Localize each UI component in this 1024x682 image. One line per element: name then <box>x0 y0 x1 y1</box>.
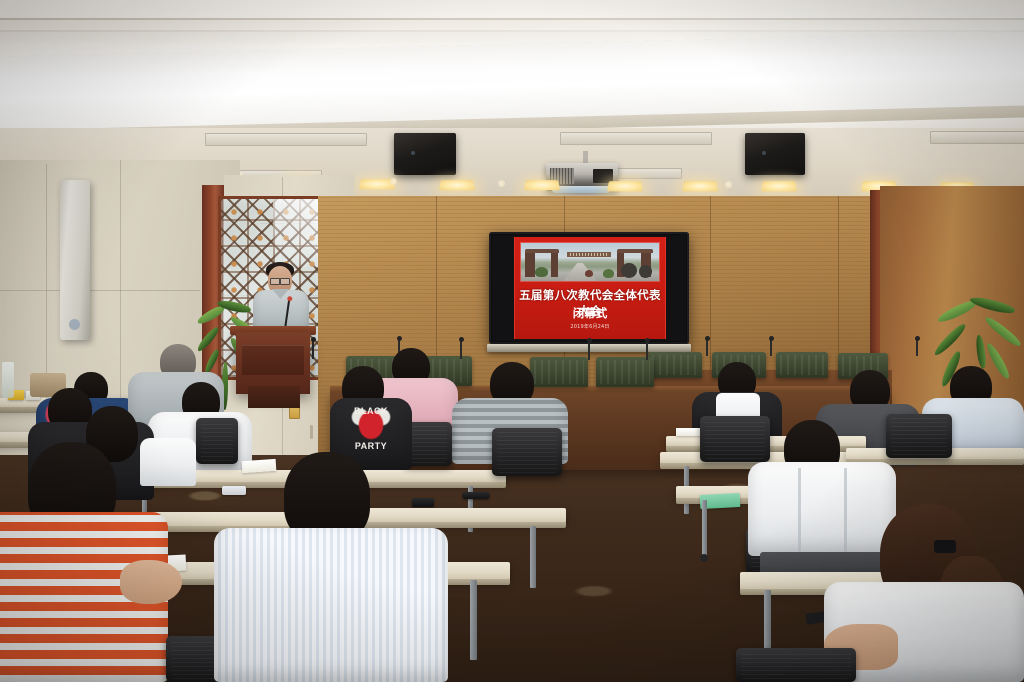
chair-row3-c[interactable] <box>492 428 562 476</box>
chair-row3-a[interactable] <box>196 418 238 464</box>
downlight-small-5 <box>725 181 732 188</box>
attendee-blue-torso <box>214 528 448 682</box>
hair-tie <box>934 540 956 553</box>
chair-front-right[interactable] <box>736 648 856 682</box>
desk-leg-f3 <box>530 526 536 588</box>
slide: 五届第八次教代会全体代表大会 闭幕式 2019年6月24日 <box>514 237 666 339</box>
desk-leg-r2c <box>702 500 707 556</box>
chair-row2-right[interactable] <box>700 416 770 462</box>
dark-object-on-desk[interactable] <box>462 492 490 499</box>
blazer-lapel-left <box>798 468 801 554</box>
papers-row3 <box>242 459 277 473</box>
attendee-white-blazer-torso <box>748 462 896 556</box>
desk-leg-f5 <box>470 580 477 660</box>
desk-caster-1 <box>700 554 708 562</box>
head-chair-4[interactable] <box>596 357 654 387</box>
ceiling-speaker-left <box>394 133 456 175</box>
slide-photo <box>521 243 659 281</box>
downlight-small-4 <box>498 180 505 187</box>
door-handle[interactable] <box>310 425 313 439</box>
ceiling-speaker-right <box>745 133 805 175</box>
podium-front-panel <box>242 345 304 375</box>
head-mic-r3 <box>916 340 918 356</box>
head-mic-2 <box>460 341 462 359</box>
glasses-icon <box>270 278 290 283</box>
slide-subtitle: 闭幕式 <box>515 305 665 321</box>
head-chair-3[interactable] <box>530 357 588 387</box>
blazer-lapel-right <box>844 468 847 554</box>
slide-date: 2019年6月24日 <box>515 323 665 330</box>
desk-front-center <box>336 508 566 523</box>
head-mic-r1 <box>706 340 708 356</box>
air-vent-right <box>930 131 1024 144</box>
projector-lens <box>552 186 610 193</box>
wall-column-speaker <box>60 180 90 340</box>
downlight-3 <box>439 180 475 190</box>
head-chair-r3[interactable] <box>776 352 828 378</box>
phone-on-desk[interactable] <box>222 486 246 495</box>
tee-text-bottom: PARTY <box>344 441 398 451</box>
air-vent-center <box>560 132 712 145</box>
head-mic-5 <box>312 341 314 359</box>
chair-row2-right2[interactable] <box>886 414 952 458</box>
head-mic-3 <box>588 342 590 360</box>
downlight-4 <box>524 180 560 190</box>
downlight-small-3 <box>390 178 397 185</box>
downlight-5 <box>607 181 643 191</box>
screen-panel: 五届第八次教代会全体代表大会 闭幕式 2019年6月24日 <box>492 235 686 341</box>
air-vent-left <box>205 133 367 146</box>
attendee-white-shoulder <box>140 438 196 486</box>
downlight-6 <box>682 181 718 191</box>
head-mic-4 <box>646 342 648 360</box>
conference-room-photo: 五届第八次教代会全体代表大会 闭幕式 2019年6月24日 <box>0 0 1024 682</box>
dark-phone-on-desk[interactable] <box>412 498 434 507</box>
head-chair-r1[interactable] <box>648 352 702 378</box>
water-cup-left <box>2 362 14 398</box>
presentation-screen[interactable]: 五届第八次教代会全体代表大会 闭幕式 2019年6月24日 <box>489 232 689 344</box>
papers-row4 <box>676 428 702 436</box>
head-mic-r2 <box>770 340 772 356</box>
attendee-orange-arm <box>120 560 182 604</box>
tee-text-top: BLACK <box>344 406 398 416</box>
downlight-7 <box>761 181 797 191</box>
podium-base <box>248 386 300 408</box>
